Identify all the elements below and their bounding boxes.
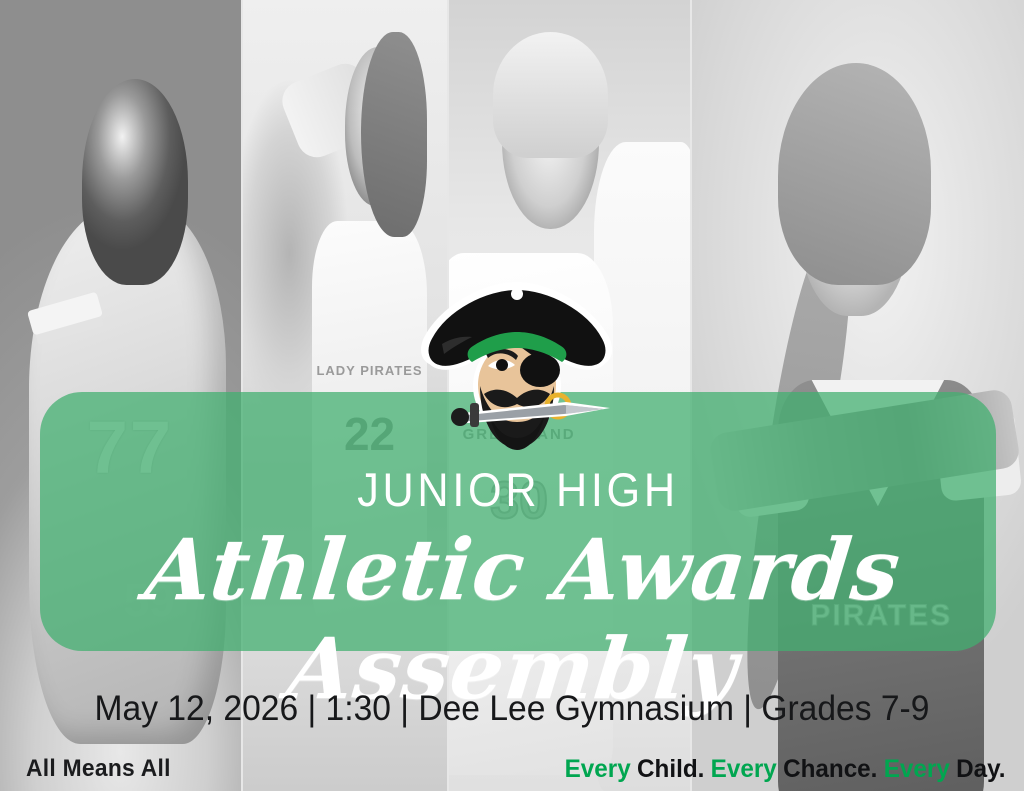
poster-canvas: 77 59 LADY PIRATES 22 bbox=[0, 0, 1024, 791]
headline-junior-high: JUNIOR HIGH bbox=[78, 466, 958, 513]
football-helmet bbox=[82, 79, 188, 285]
tagline-word-2: Every bbox=[711, 755, 777, 783]
cheer-hair bbox=[778, 63, 931, 284]
tagline-word-0: Every bbox=[565, 755, 631, 783]
tagline-word-5: Day. bbox=[957, 755, 1006, 783]
tagline-word-1: Child. bbox=[637, 755, 704, 783]
event-details-line: May 12, 2026 | 1:30 | Dee Lee Gymnasium … bbox=[20, 689, 1003, 729]
footer: All Means All EveryChild.EveryChance.Eve… bbox=[0, 755, 1024, 791]
girls-basketball-team-text: LADY PIRATES bbox=[312, 364, 427, 377]
boys-basketball-hair bbox=[493, 32, 608, 159]
tagline-word-4: Every bbox=[884, 755, 950, 783]
tagline-word-3: Chance. bbox=[784, 755, 878, 783]
district-tagline: EveryChild.EveryChance.EveryDay. bbox=[565, 755, 1006, 784]
district-motto: All Means All bbox=[26, 755, 171, 783]
girls-basketball-hair bbox=[361, 32, 427, 238]
